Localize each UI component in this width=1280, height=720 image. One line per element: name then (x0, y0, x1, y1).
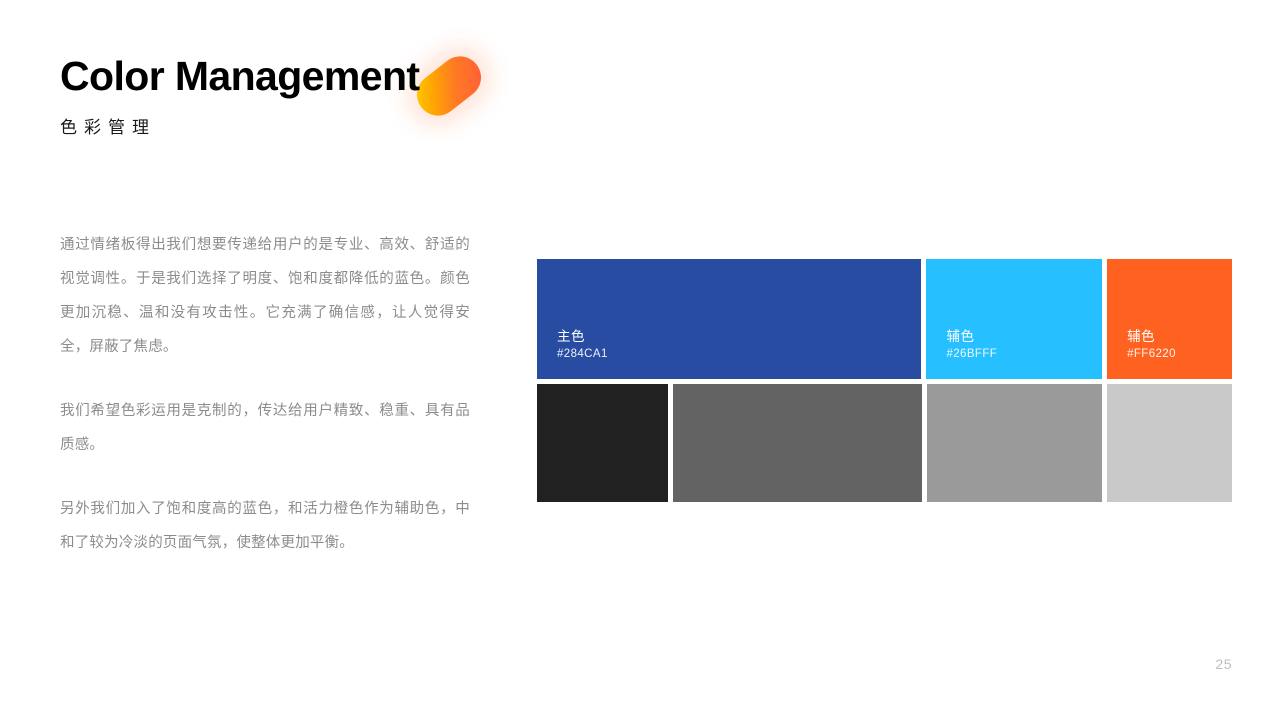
color-swatch-secondary-orange[interactable]: 辅色 #FF6220 (1107, 259, 1232, 379)
color-swatch-secondary-cyan[interactable]: 辅色 #26BFFF (926, 259, 1102, 379)
paragraph: 另外我们加入了饱和度高的蓝色，和活力橙色作为辅助色，中和了较为冷淡的页面气氛，使… (60, 492, 470, 560)
palette-neutral-row (537, 384, 1232, 502)
color-swatch-neutral-500[interactable] (927, 384, 1103, 502)
paragraph: 我们希望色彩运用是克制的，传达给用户精致、稳重、具有品质感。 (60, 394, 470, 462)
description-text-block: 通过情绪板得出我们想要传递给用户的是专业、高效、舒适的视觉调性。于是我们选择了明… (60, 228, 470, 560)
swatch-name: 辅色 (946, 328, 1102, 346)
page-number: 25 (1215, 656, 1232, 672)
swatch-hex: #26BFFF (946, 346, 1102, 363)
swatch-hex: #284CA1 (557, 346, 921, 363)
swatch-hex: #FF6220 (1127, 346, 1232, 363)
paragraph: 通过情绪板得出我们想要传递给用户的是专业、高效、舒适的视觉调性。于是我们选择了明… (60, 228, 470, 364)
color-swatch-neutral-900[interactable] (537, 384, 668, 502)
color-swatch-neutral-300[interactable] (1107, 384, 1232, 502)
swatch-name: 辅色 (1127, 328, 1232, 346)
palette-primary-row: 主色 #284CA1 辅色 #26BFFF 辅色 #FF6220 (537, 259, 1232, 379)
page-title: Color Management (60, 56, 419, 97)
color-swatch-primary[interactable]: 主色 #284CA1 (537, 259, 921, 379)
title-wrap: Color Management (60, 56, 419, 97)
page-subtitle: 色彩管理 (60, 97, 580, 136)
color-palette: 主色 #284CA1 辅色 #26BFFF 辅色 #FF6220 (537, 259, 1232, 502)
swatch-name: 主色 (557, 328, 921, 346)
slide-header: Color Management 色彩管理 (60, 56, 580, 136)
color-swatch-neutral-700[interactable] (673, 384, 921, 502)
